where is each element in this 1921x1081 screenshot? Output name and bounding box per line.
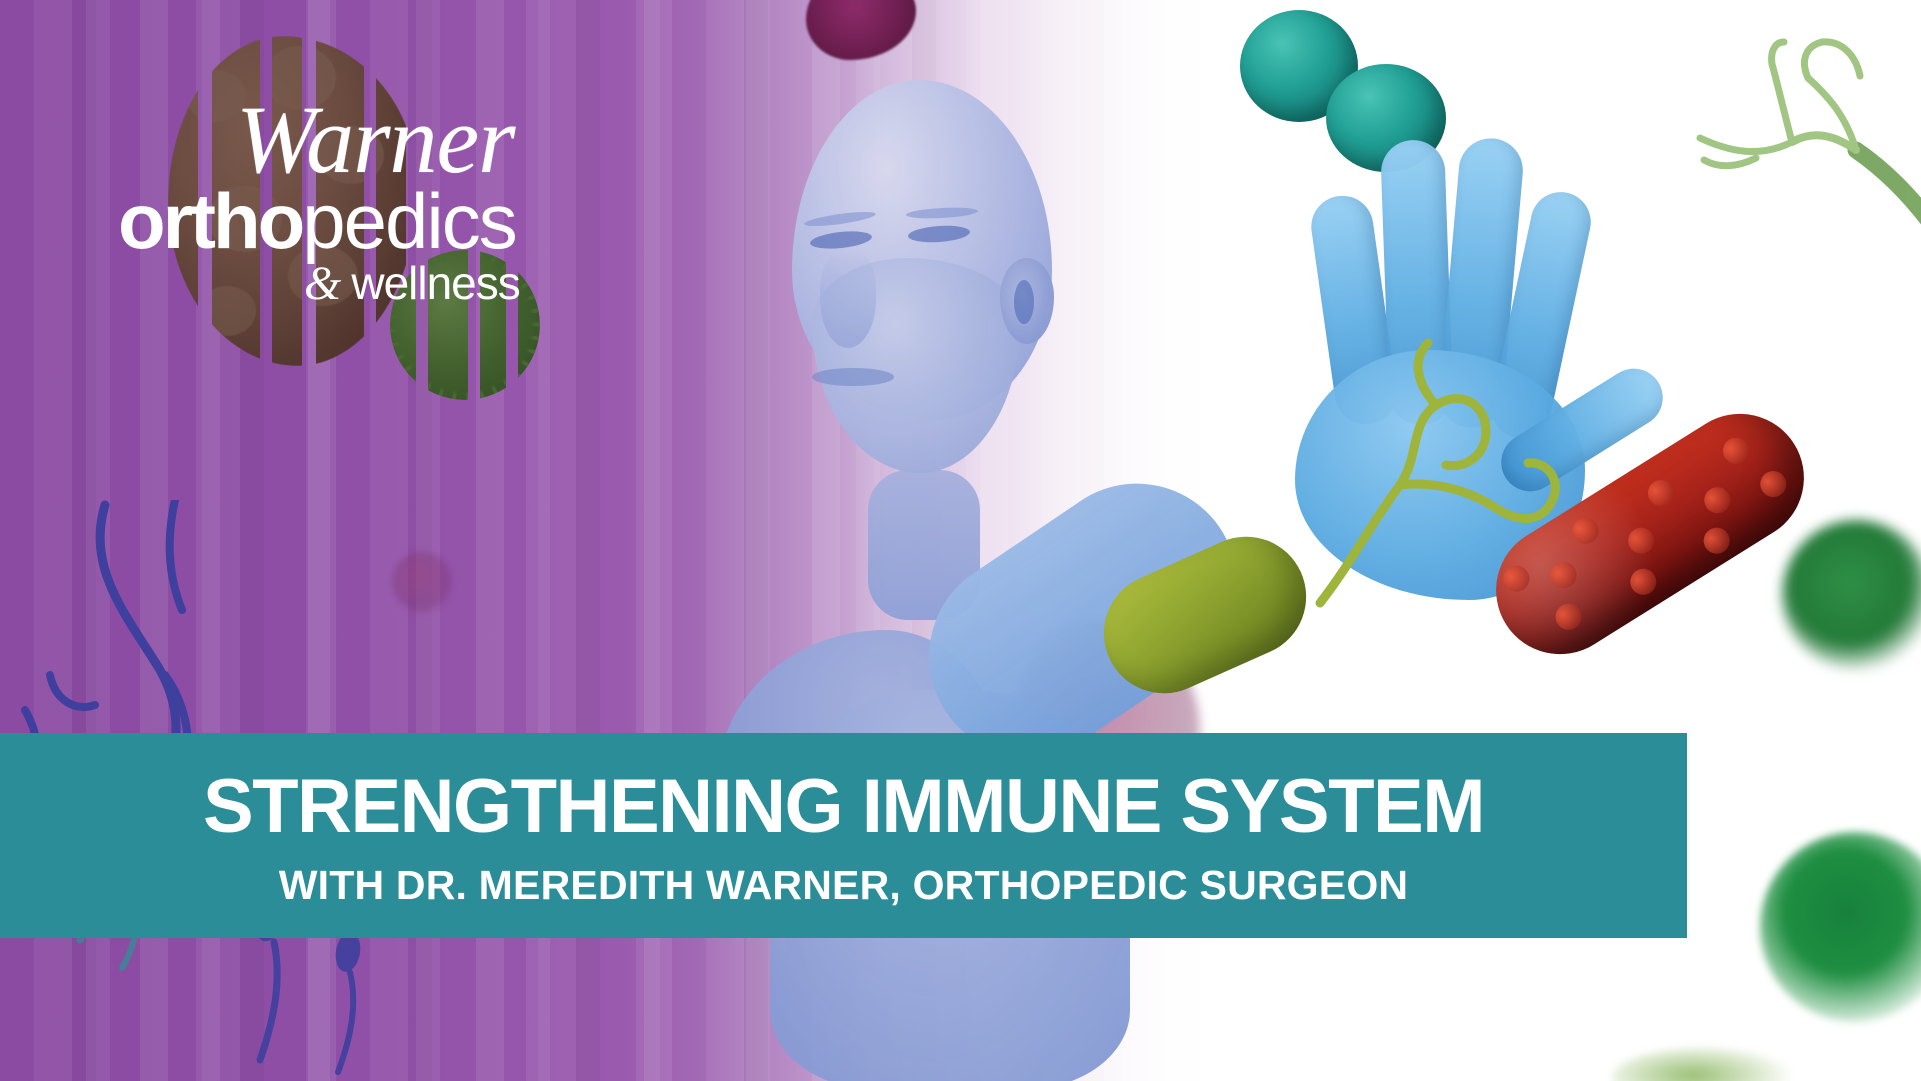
logo-ampersand: & bbox=[304, 257, 351, 310]
title-banner: STRENGTHENING IMMUNE SYSTEM WITH DR. MER… bbox=[0, 733, 1687, 938]
magenta-cell-small-icon bbox=[392, 552, 452, 612]
figure-lips bbox=[812, 368, 894, 386]
logo-word-ortho: ortho bbox=[118, 177, 302, 265]
logo-wordmark: orthopedics bbox=[118, 182, 516, 260]
poster-canvas: Warner orthopedics & wellness STRENGTHEN… bbox=[0, 0, 1921, 1081]
logo-script-warner: Warner bbox=[236, 92, 514, 188]
banner-subtitle: WITH DR. MEREDITH WARNER, ORTHOPEDIC SUR… bbox=[279, 865, 1408, 906]
figure-nose bbox=[820, 250, 876, 348]
logo-subline: & wellness bbox=[304, 260, 520, 308]
logo-word-pedics: pedics bbox=[302, 177, 515, 265]
figure-ear bbox=[1000, 258, 1054, 344]
banner-title: STRENGTHENING IMMUNE SYSTEM bbox=[203, 769, 1484, 845]
logo-word-wellness: wellness bbox=[351, 257, 519, 309]
brand-logo[interactable]: Warner orthopedics & wellness bbox=[118, 52, 548, 272]
green-cell-blob-icon-1 bbox=[1782, 520, 1921, 670]
